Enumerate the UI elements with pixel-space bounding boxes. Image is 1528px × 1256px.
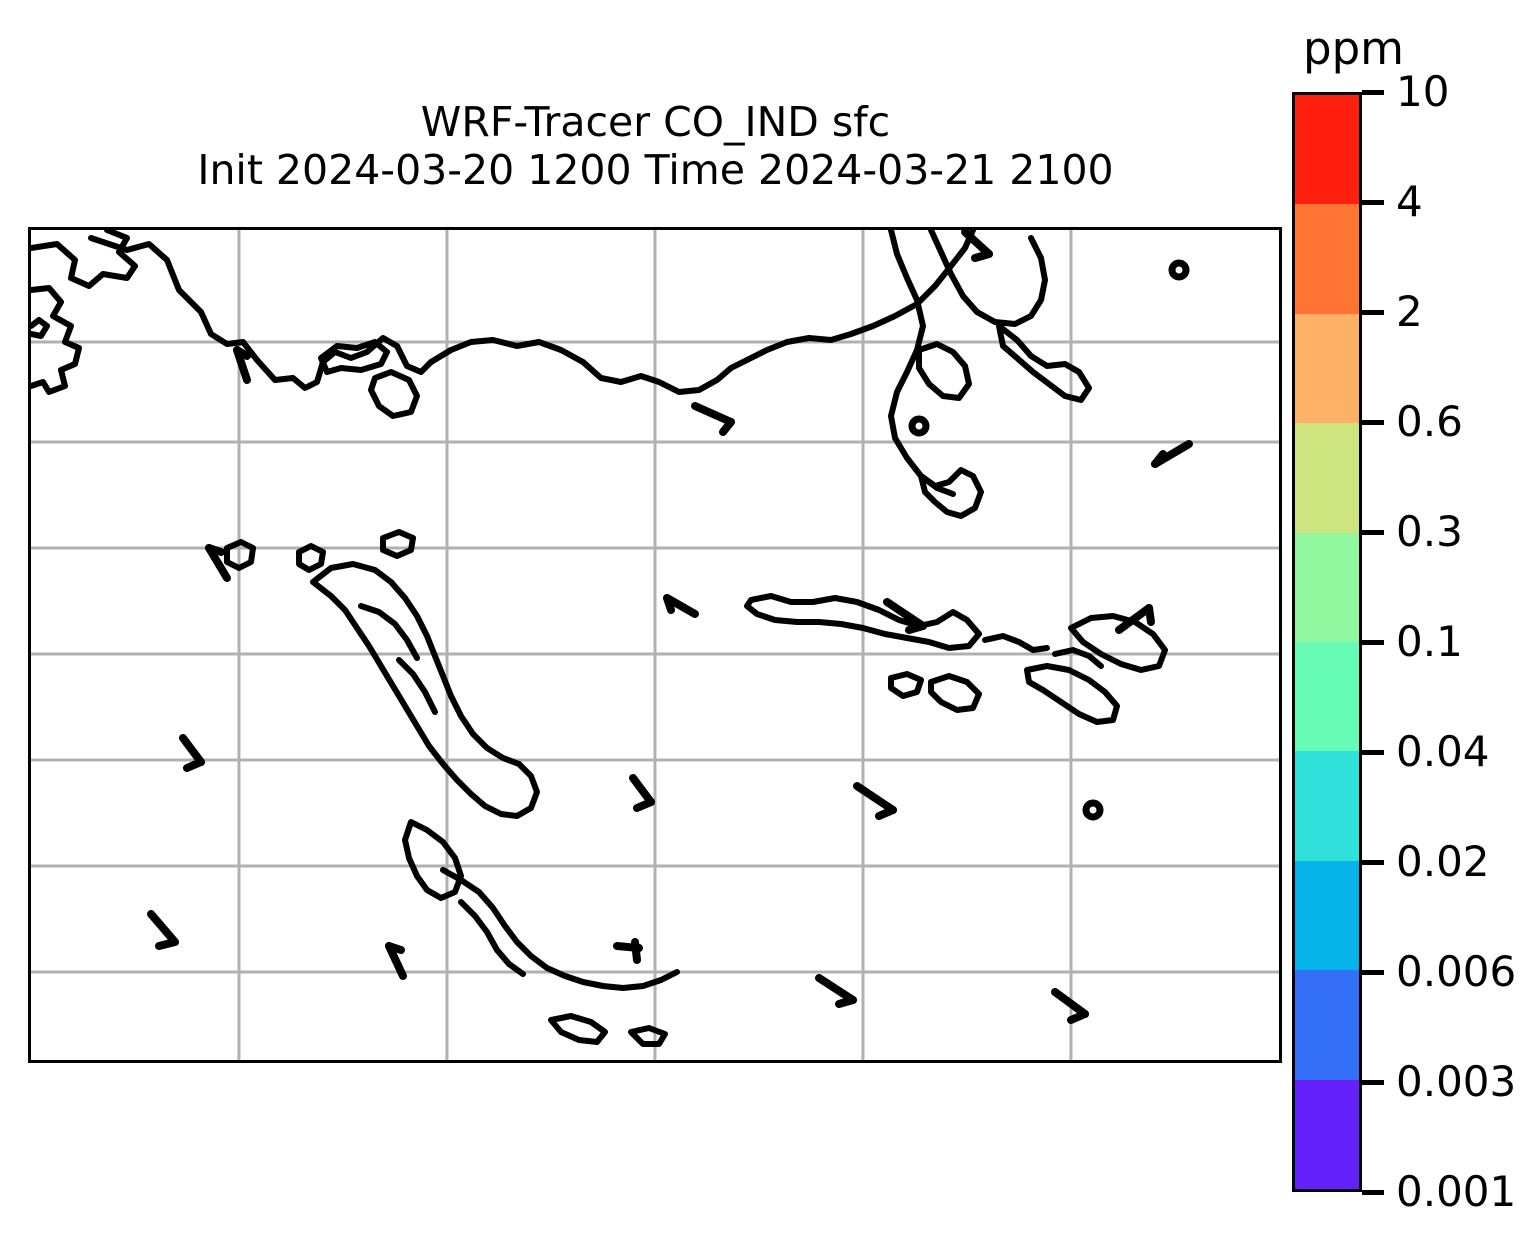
tick-mark-icon: [1362, 970, 1384, 975]
colorbar-ticks: 10 4 2 0.6 0.3 0.1: [1362, 92, 1522, 1192]
wind-barb: [183, 738, 201, 768]
title-line-2: Init 2024-03-20 1200 Time 2024-03-21 210…: [28, 146, 1283, 194]
tick-mark-icon: [1362, 640, 1384, 645]
figure-canvas: WRF-Tracer CO_IND sfc Init 2024-03-20 12…: [0, 0, 1528, 1256]
tick-mark-icon: [1362, 750, 1384, 755]
calm-circle: [912, 419, 926, 433]
colorbar-bands: [1292, 92, 1362, 1192]
wind-barb: [695, 406, 731, 432]
map-plot-area: [28, 227, 1282, 1063]
map-svg: [31, 230, 1279, 1060]
calm-circle: [1086, 803, 1100, 817]
wind-barbs: [151, 232, 1189, 1020]
calm-circle: [1172, 263, 1186, 277]
colorbar-unit-label: ppm: [1303, 22, 1404, 75]
tick-mark-icon: [1362, 200, 1384, 205]
colorbar-band-0.02-0.04: [1295, 751, 1359, 860]
colorbar-band-0.1-0.3: [1295, 533, 1359, 642]
tick-mark-icon: [1362, 1190, 1384, 1195]
colorbar-band-0.006-0.02: [1295, 861, 1359, 970]
coastlines: [31, 230, 1165, 1044]
tick-mark-icon: [1362, 860, 1384, 865]
tick-mark-icon: [1362, 90, 1384, 95]
calm-circles: [912, 263, 1186, 817]
wind-barb: [1155, 444, 1189, 464]
wind-barb: [617, 942, 639, 960]
wind-barb: [667, 598, 695, 614]
wind-barb: [819, 978, 853, 1004]
colorbar-band-0.6-2: [1295, 314, 1359, 423]
tick-mark-icon: [1362, 310, 1384, 315]
tick-mark-icon: [1362, 530, 1384, 535]
chart-title: WRF-Tracer CO_IND sfc Init 2024-03-20 12…: [28, 98, 1283, 195]
tick-mark-icon: [1362, 1080, 1384, 1085]
colorbar-band-4-10: [1295, 95, 1359, 204]
map-content: [31, 230, 1279, 1060]
wind-barb: [633, 778, 651, 808]
title-line-1: WRF-Tracer CO_IND sfc: [28, 98, 1283, 146]
tick-mark-icon: [1362, 420, 1384, 425]
wind-barb: [151, 914, 175, 946]
colorbar-band-2-4: [1295, 204, 1359, 313]
colorbar: 10 4 2 0.6 0.3 0.1: [1292, 92, 1362, 1192]
colorbar-band-0.003-0.006: [1295, 970, 1359, 1079]
colorbar-band-0.001-0.003: [1295, 1080, 1359, 1189]
colorbar-band-0.04-0.1: [1295, 642, 1359, 751]
colorbar-band-0.3-0.6: [1295, 423, 1359, 532]
